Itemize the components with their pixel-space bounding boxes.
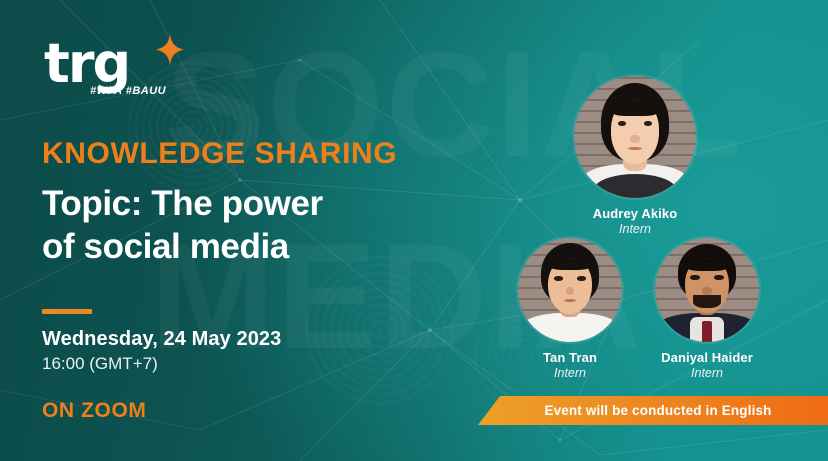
avatar-daniyal-haider bbox=[655, 238, 759, 342]
speaker-card-daniyal-haider: Daniyal Haider Intern bbox=[637, 238, 777, 380]
page-kicker: KNOWLEDGE SHARING bbox=[42, 137, 397, 171]
topic-line-1: Topic: The power bbox=[42, 182, 323, 225]
sparkle-star-icon bbox=[152, 32, 188, 70]
logo-wordmark: trg bbox=[44, 38, 166, 89]
decorative-mandala-2 bbox=[300, 250, 460, 410]
logo-tagline: #WFA #BAUU bbox=[90, 85, 166, 97]
language-banner: Event will be conducted in English bbox=[478, 396, 828, 425]
event-date: Wednesday, 24 May 2023 bbox=[42, 328, 281, 351]
page-title: Topic: The power of social media bbox=[42, 182, 323, 269]
topic-line-2: of social media bbox=[42, 225, 323, 268]
speaker-name: Tan Tran bbox=[500, 350, 640, 365]
speaker-role: Intern bbox=[637, 366, 777, 380]
language-banner-text: Event will be conducted in English bbox=[534, 403, 771, 418]
speaker-name: Daniyal Haider bbox=[637, 350, 777, 365]
event-time: 16:00 (GMT+7) bbox=[42, 354, 158, 374]
accent-divider bbox=[42, 309, 92, 314]
speaker-card-tan-tran: Tan Tran Intern bbox=[500, 238, 640, 380]
avatar-audrey-akiko bbox=[574, 76, 696, 198]
event-poster: SOCIAL MEDIA trg bbox=[0, 0, 828, 461]
speaker-name: Audrey Akiko bbox=[555, 206, 715, 221]
speaker-card-audrey-akiko: Audrey Akiko Intern bbox=[555, 76, 715, 236]
speaker-role: Intern bbox=[555, 222, 715, 236]
event-platform: ON ZOOM bbox=[42, 399, 147, 423]
avatar-tan-tran bbox=[518, 238, 622, 342]
speaker-role: Intern bbox=[500, 366, 640, 380]
trg-logo: trg #WFA #BAUU bbox=[44, 38, 166, 97]
